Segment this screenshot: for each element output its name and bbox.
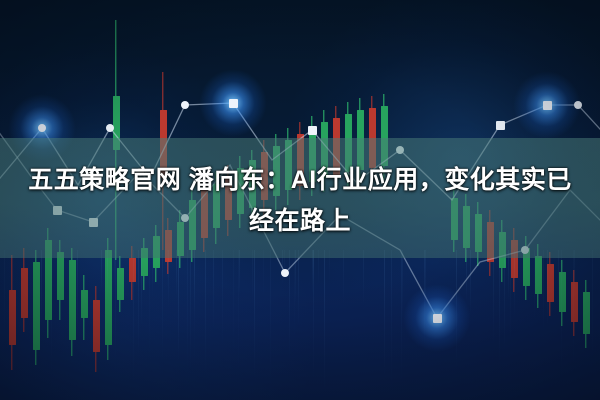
zigzag-node bbox=[308, 126, 317, 135]
zigzag-node bbox=[396, 146, 404, 154]
zigzag-node bbox=[543, 101, 552, 110]
page-title: 五五策略官网 潘向东：AI行业应用，变化其实已 经在路上 bbox=[0, 160, 600, 242]
zigzag-node bbox=[521, 246, 529, 254]
zigzag-node bbox=[229, 99, 238, 108]
zigzag-node bbox=[181, 101, 189, 109]
zigzag-node bbox=[106, 124, 114, 132]
zigzag-node bbox=[496, 121, 505, 130]
zigzag-node bbox=[281, 269, 289, 277]
zigzag-node bbox=[433, 314, 442, 323]
headline-line-2: 经在路上 bbox=[249, 207, 351, 235]
headline-line-1: 五五策略官网 潘向东：AI行业应用，变化其实已 bbox=[28, 166, 571, 194]
zigzag-node bbox=[574, 101, 582, 109]
stock-market-banner-image: 五五策略官网 潘向东：AI行业应用，变化其实已 经在路上 bbox=[0, 0, 600, 400]
zigzag-node bbox=[38, 124, 46, 132]
